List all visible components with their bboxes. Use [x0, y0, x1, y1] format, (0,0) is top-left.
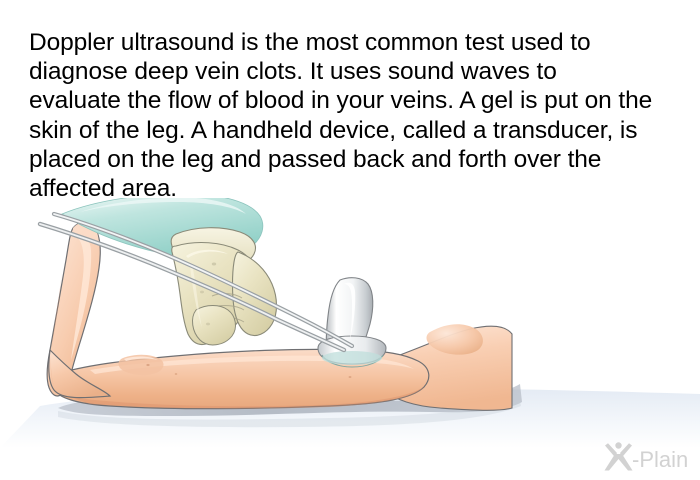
x-figure-icon — [605, 442, 633, 470]
ultrasound-transducer-probe — [318, 278, 386, 367]
page-title: Doppler ultrasound is the most common te… — [29, 28, 654, 203]
page-root: Doppler ultrasound is the most common te… — [0, 0, 700, 480]
xplain-logo: -Plain — [601, 441, 696, 475]
ultrasound-illustration — [0, 198, 700, 448]
logo-text: -Plain — [632, 447, 688, 472]
illustration-svg — [0, 198, 700, 448]
xplain-logo-svg: -Plain — [601, 441, 696, 475]
